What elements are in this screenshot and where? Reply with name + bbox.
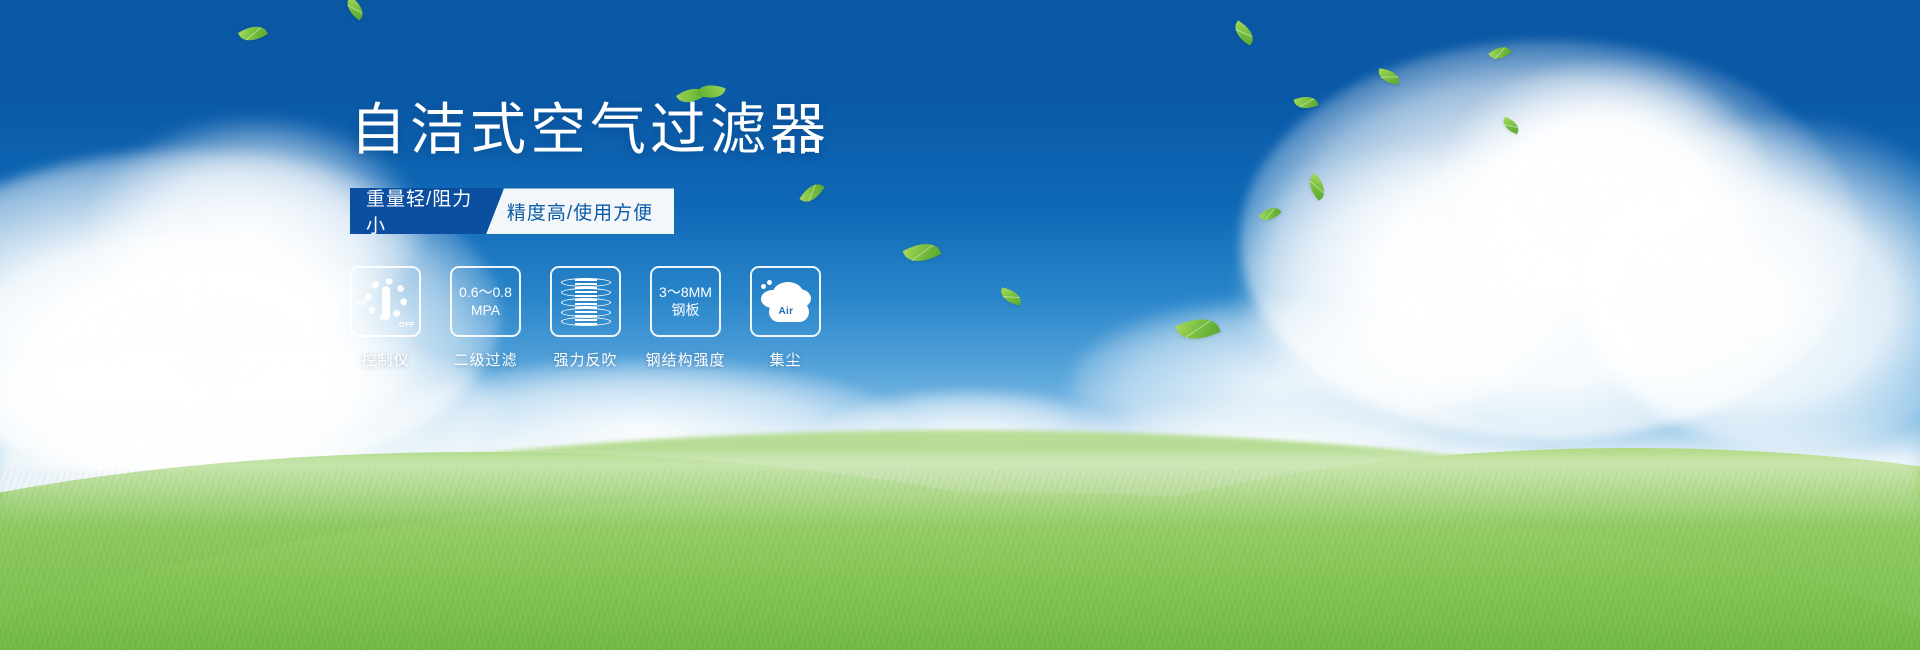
- feature-item: 3～8MM 钢板 钢结构强度: [650, 266, 721, 370]
- feature-label: 强力反吹: [553, 349, 617, 370]
- feature-label: 二级过滤: [453, 349, 517, 370]
- feature-item: 0.6～0.8 MPA 二级过滤: [450, 266, 521, 370]
- steel-material: 钢板: [659, 302, 712, 320]
- product-banner: 自洁式空气过滤器 重量轻/阻力小 精度高/使用方便 NO OFF: [0, 0, 1920, 650]
- steel-plate-text-icon: 3～8MM 钢板: [659, 284, 712, 319]
- feature-label: 控制仪: [361, 349, 409, 370]
- feature-icon-box: 0.6～0.8 MPA: [450, 266, 521, 337]
- feature-label: 钢结构强度: [646, 349, 726, 370]
- filter-stack-icon: [561, 277, 611, 327]
- feature-icon-box: [550, 266, 621, 337]
- feature-icon-box: NO OFF: [350, 266, 421, 337]
- tagline-badge-primary: 重量轻/阻力小: [350, 188, 502, 234]
- tagline-group: 重量轻/阻力小 精度高/使用方便: [350, 188, 674, 234]
- gauge-icon: NO OFF: [358, 276, 414, 328]
- feature-icon-box: 3～8MM 钢板: [650, 266, 721, 337]
- feature-item: 强力反吹: [550, 266, 621, 370]
- feature-item: Air 集尘: [750, 266, 821, 370]
- feature-icon-box: Air: [750, 266, 821, 337]
- grass-texture: [0, 470, 1920, 650]
- pressure-unit: MPA: [459, 302, 512, 320]
- feature-item: NO OFF 控制仪: [350, 266, 421, 370]
- leaf-sprig-icon: [678, 78, 730, 112]
- air-label: Air: [779, 306, 794, 317]
- feature-list: NO OFF 控制仪 0.6～0.8 MPA 二级过滤: [350, 266, 990, 370]
- pressure-text-icon: 0.6～0.8 MPA: [459, 284, 512, 319]
- page-title: 自洁式空气过滤器: [350, 100, 830, 160]
- pressure-range: 0.6～0.8: [459, 284, 512, 300]
- gauge-off-label: OFF: [399, 322, 415, 329]
- tagline-badge-secondary: 精度高/使用方便: [486, 188, 674, 234]
- banner-content: 自洁式空气过滤器 重量轻/阻力小 精度高/使用方便 NO OFF: [350, 100, 990, 370]
- dust-air-icon: Air: [759, 280, 813, 324]
- gauge-no-label: NO: [356, 300, 368, 307]
- feature-label: 集尘: [769, 349, 801, 370]
- headline-wrapper: 自洁式空气过滤器: [350, 100, 830, 160]
- steel-thickness: 3～8MM: [659, 284, 712, 300]
